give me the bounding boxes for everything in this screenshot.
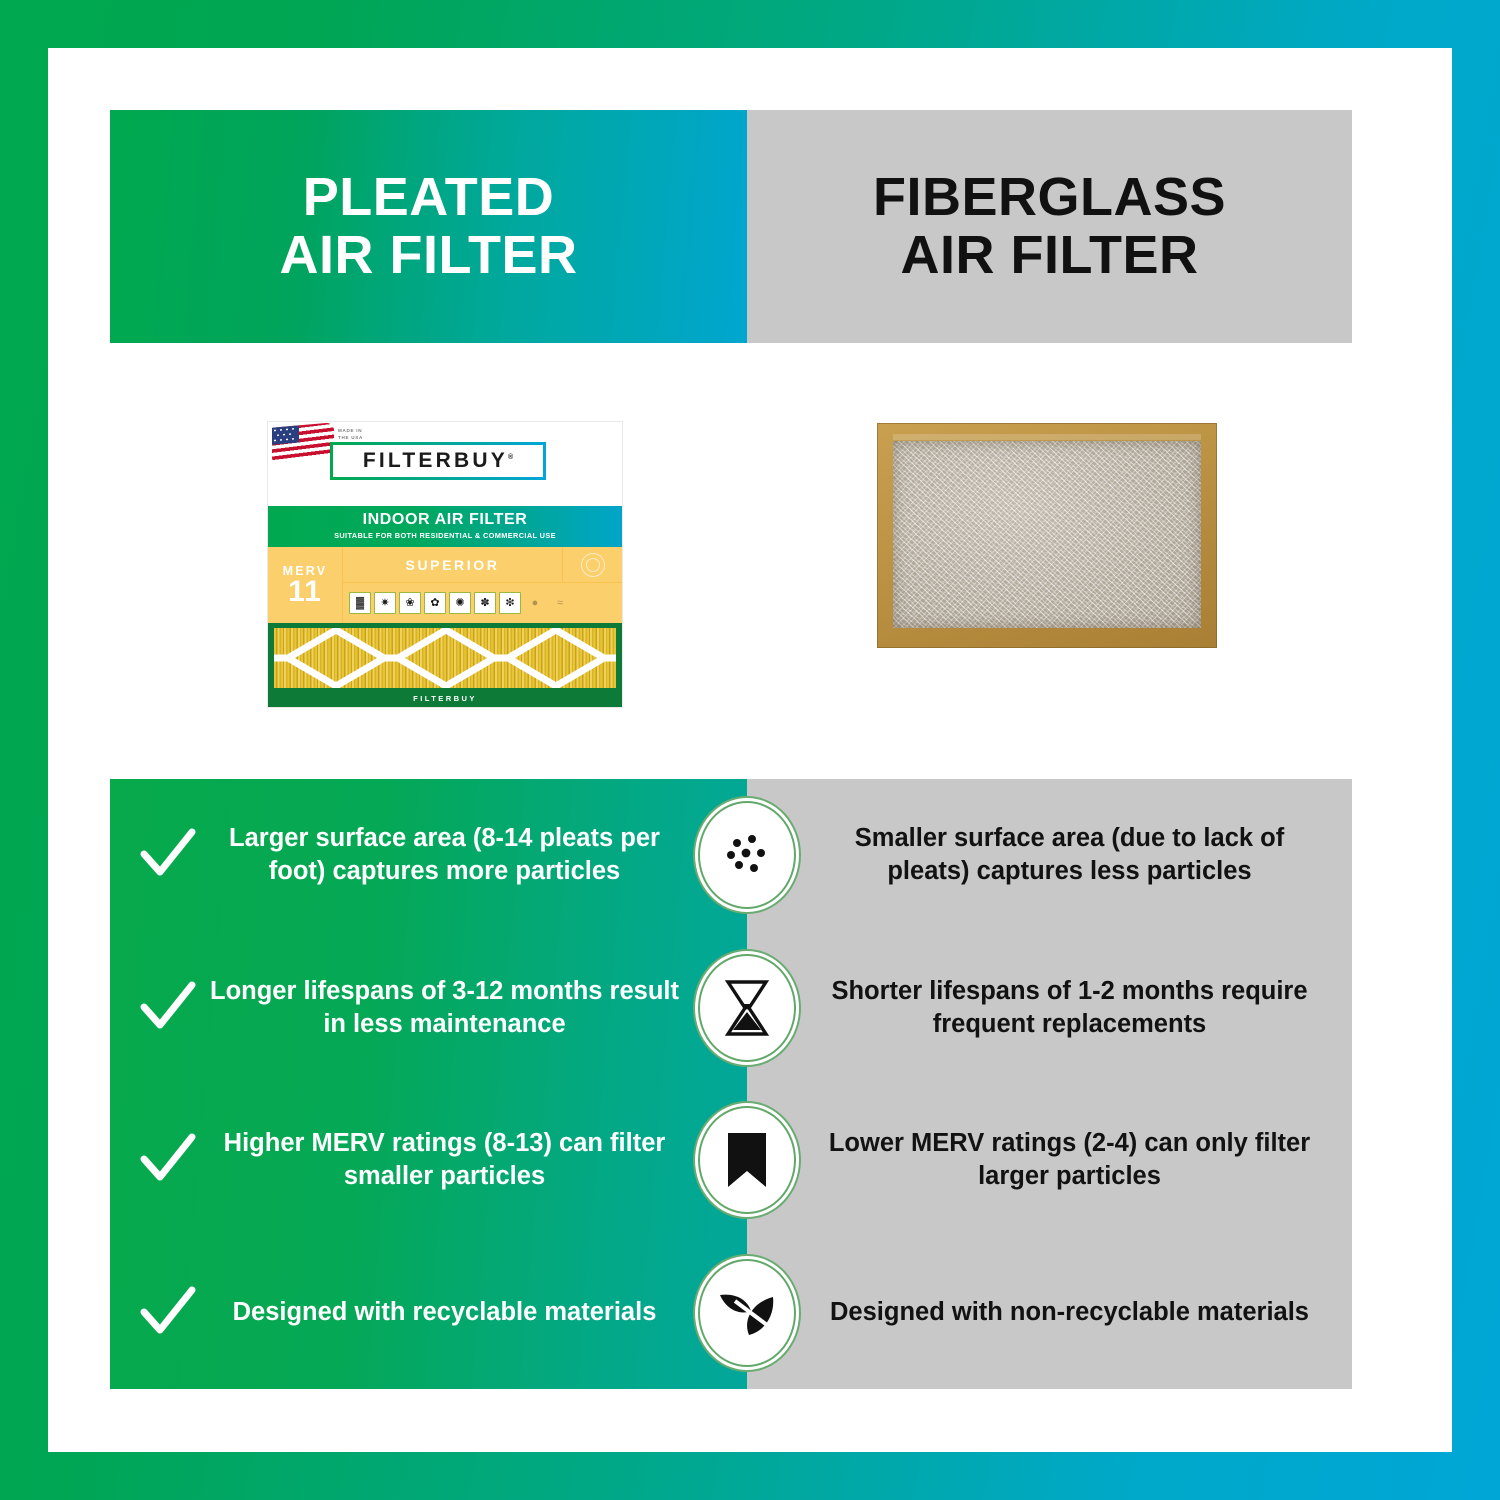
diamond-mesh-icon xyxy=(274,628,616,688)
merv-strip: MERV 11 SUPERIOR ▓ ✷ ❀ xyxy=(268,547,622,623)
dust-mite-icon: ✷ xyxy=(374,592,396,614)
made-in-usa-label: MADE IN THE USA xyxy=(338,428,363,442)
hourglass-icon xyxy=(698,954,796,1062)
filterbuy-logo: FILTERBUY® xyxy=(330,442,546,480)
mold-spores-icon: ✿ xyxy=(424,592,446,614)
odor-icon: ≈ xyxy=(549,592,571,614)
comparison-table: Larger surface area (8-14 pleats per foo… xyxy=(110,779,1352,1389)
bottom-brand-label: FILTERBUY xyxy=(268,694,622,703)
dust-icon: ▓ xyxy=(349,592,371,614)
filterbuy-logo-text: FILTERBUY xyxy=(363,449,508,472)
header-row: PLEATED AIR FILTER FIBERGLASS AIR FILTER xyxy=(110,110,1352,343)
pleated-media-section: FILTERBUY xyxy=(268,623,622,707)
table-row: Longer lifespans of 3-12 months result i… xyxy=(110,932,1352,1085)
row-text-pleated: Higher MERV ratings (8-13) can filter sm… xyxy=(206,1127,683,1193)
header-pleated: PLEATED AIR FILTER xyxy=(110,110,747,343)
checkmark-icon xyxy=(136,977,198,1039)
trademark-mark: ® xyxy=(508,454,513,461)
bacteria-icon: ✺ xyxy=(449,592,471,614)
table-row: Higher MERV ratings (8-13) can filter sm… xyxy=(110,1084,1352,1237)
merv-rating-value: 11 xyxy=(288,578,322,607)
pleated-filter-product-image: MADE IN THE USA FILTERBUY® INDOOR AIR FI… xyxy=(268,422,622,707)
checkmark-icon xyxy=(136,1129,198,1191)
table-row: Designed with recyclable materials Desig… xyxy=(110,1237,1352,1390)
row-text-pleated: Longer lifespans of 3-12 months result i… xyxy=(206,975,683,1041)
particles-icon xyxy=(698,801,796,909)
row-text-fiberglass: Designed with non-recyclable materials xyxy=(813,1296,1326,1329)
leaf-recycle-icon xyxy=(698,1259,796,1367)
usa-flag-icon xyxy=(272,422,334,461)
cardboard-seam xyxy=(893,434,1201,440)
row-text-fiberglass: Lower MERV ratings (2-4) can only filter… xyxy=(813,1127,1326,1193)
yellow-pleat-media xyxy=(274,628,616,688)
header-fiberglass-title: FIBERGLASS AIR FILTER xyxy=(873,169,1226,283)
pleated-filter-cell: MADE IN THE USA FILTERBUY® INDOOR AIR FI… xyxy=(110,343,747,779)
filter-box-top: MADE IN THE USA FILTERBUY® xyxy=(268,422,622,506)
row-text-fiberglass: Smaller surface area (due to lack of ple… xyxy=(813,822,1326,888)
band-title: INDOOR AIR FILTER xyxy=(268,511,622,529)
smoke-icon: ❇ xyxy=(499,592,521,614)
filter-box-band: INDOOR AIR FILTER SUITABLE FOR BOTH RESI… xyxy=(268,506,622,547)
infographic-page: PLEATED AIR FILTER FIBERGLASS AIR FILTER… xyxy=(48,48,1452,1452)
pet-dander-icon: ✽ xyxy=(474,592,496,614)
bookmark-icon xyxy=(698,1106,796,1214)
header-pleated-title: PLEATED AIR FILTER xyxy=(280,169,578,283)
band-subtitle: SUITABLE FOR BOTH RESIDENTIAL & COMMERCI… xyxy=(268,531,622,540)
certification-seal-icon xyxy=(581,553,605,577)
row-text-fiberglass: Shorter lifespans of 1-2 months require … xyxy=(813,975,1326,1041)
checkmark-icon xyxy=(136,1282,198,1344)
checkmark-icon xyxy=(136,824,198,886)
fiberglass-media xyxy=(893,441,1201,628)
fiberglass-filter-cell xyxy=(747,343,1352,779)
virus-icon: ● xyxy=(524,592,546,614)
table-row: Larger surface area (8-14 pleats per foo… xyxy=(110,779,1352,932)
product-image-row: MADE IN THE USA FILTERBUY® INDOOR AIR FI… xyxy=(110,343,1352,779)
row-text-pleated: Larger surface area (8-14 pleats per foo… xyxy=(206,822,683,888)
tier-label: SUPERIOR xyxy=(343,557,562,573)
header-fiberglass: FIBERGLASS AIR FILTER xyxy=(747,110,1352,343)
pollen-icon: ❀ xyxy=(399,592,421,614)
capability-icon-strip: ▓ ✷ ❀ ✿ ✺ ✽ ❇ ● ≈ xyxy=(343,583,622,623)
fiberglass-filter-product-image xyxy=(877,423,1217,648)
merv-badge: MERV 11 xyxy=(268,547,343,623)
row-text-pleated: Designed with recyclable materials xyxy=(206,1296,683,1329)
